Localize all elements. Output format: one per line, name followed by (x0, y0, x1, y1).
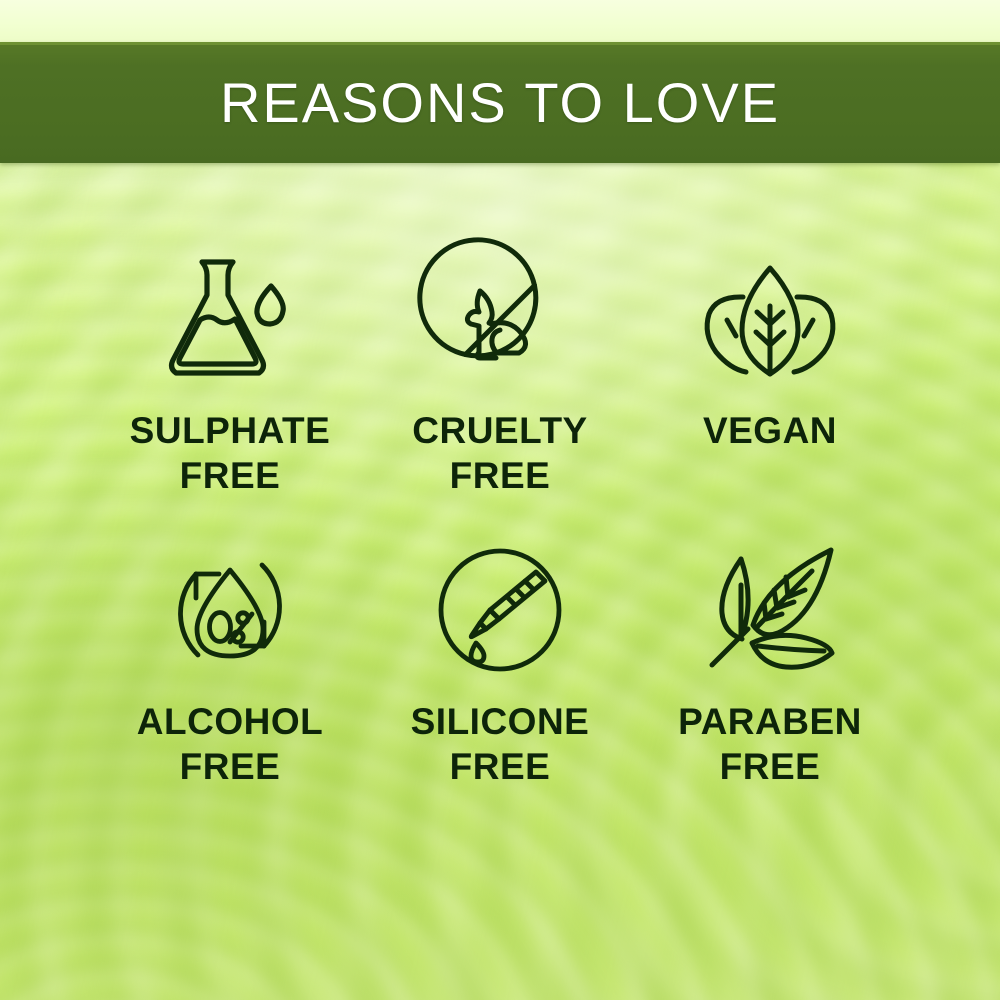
badge-label: VEGAN (703, 408, 837, 453)
badge-grid: SULPHATE FREE CRUELTY FREE (95, 250, 905, 820)
flask-droplet-icon (165, 250, 295, 390)
badge-silicone-free: SILICONE FREE (365, 535, 635, 820)
dropper-pipette-icon (433, 535, 567, 685)
no-animal-testing-rabbit-icon (434, 250, 566, 390)
badge-vegan: VEGAN (635, 250, 905, 535)
zero-percent-droplet-icon (163, 535, 297, 685)
badge-label: SULPHATE FREE (130, 408, 331, 498)
badge-label: PARABEN FREE (678, 699, 862, 789)
header-banner: REASONS TO LOVE (0, 42, 1000, 163)
badge-paraben-free: PARABEN FREE (635, 535, 905, 820)
background-top-strip (0, 0, 1000, 44)
three-leaves-vegan-icon (702, 250, 838, 390)
badge-label: CRUELTY FREE (412, 408, 587, 498)
badge-sulphate-free: SULPHATE FREE (95, 250, 365, 535)
badge-alcohol-free: ALCOHOL FREE (95, 535, 365, 820)
badge-label: SILICONE FREE (411, 699, 590, 789)
page-title: REASONS TO LOVE (220, 75, 780, 131)
leaf-sprig-icon (700, 535, 840, 685)
promo-graphic: REASONS TO LOVE SULPHATE FREE (0, 0, 1000, 1000)
badge-label: ALCOHOL FREE (137, 699, 323, 789)
badge-cruelty-free: CRUELTY FREE (365, 250, 635, 535)
